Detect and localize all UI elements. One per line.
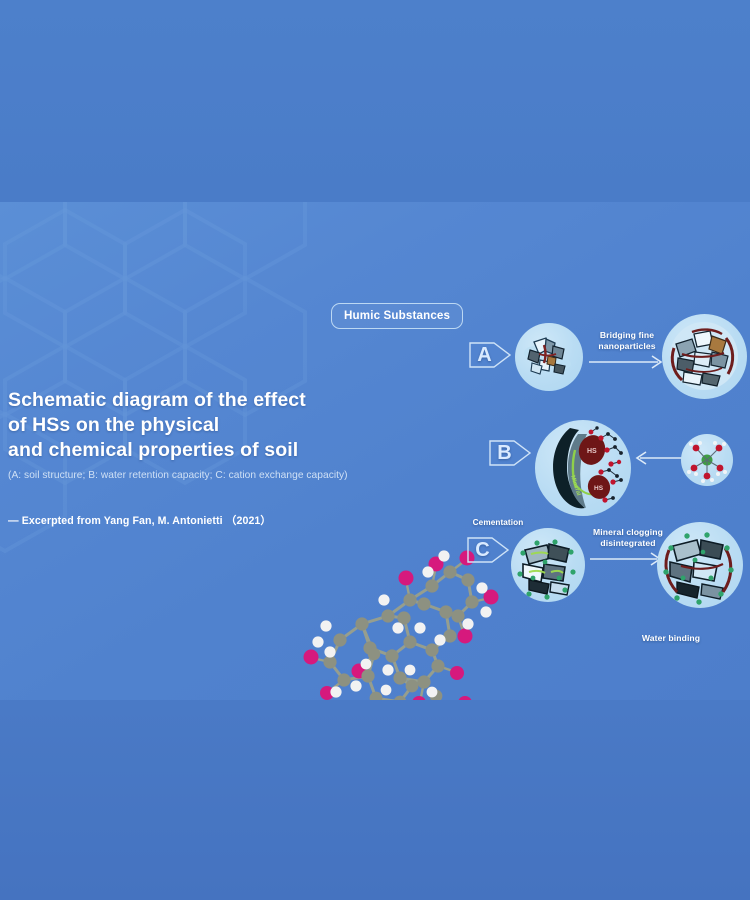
badge-a-letter: A xyxy=(468,333,501,377)
circle-humic-mineral-water-complex: HS HS Mineral xyxy=(535,420,631,516)
page-title-line-3: and chemical properties of soil xyxy=(8,439,298,461)
page-title-line-2: of HSs on the physical xyxy=(8,414,219,436)
page-background-bottom xyxy=(0,700,750,900)
badge-c-cation-exchange: C xyxy=(466,528,510,572)
source-credit: — Excerpted from Yang Fan, M. Antonietti… xyxy=(8,513,338,528)
circle-water-molecule-cluster xyxy=(681,434,733,486)
bridged-aggregate-illustration xyxy=(662,314,747,399)
caption-row-b: Water binding xyxy=(628,633,714,644)
caption-row-a-line1: Bridging fine xyxy=(584,330,670,341)
caption-row-b-line1: Water binding xyxy=(628,633,714,644)
arrow-row-c-right xyxy=(590,551,666,567)
badge-c-letter: C xyxy=(466,528,499,572)
circle-cemented-mineral-clog xyxy=(511,528,585,602)
humic-water-illustration: HS HS Mineral xyxy=(535,420,631,516)
caption-row-a-line2: nanoparticles xyxy=(584,341,670,352)
humic-substances-label: Humic Substances xyxy=(331,303,463,329)
page-background-top xyxy=(0,0,750,202)
page-title-line-1: Schematic diagram of the effect xyxy=(8,389,306,411)
banner-band: Bridging fine nanoparticles xyxy=(0,202,750,700)
figure-canvas: Bridging fine nanoparticles xyxy=(0,0,750,900)
circle-bridged-soil-aggregate xyxy=(662,314,747,399)
badge-b-letter: B xyxy=(488,431,521,475)
page-title: Schematic diagram of the effect of HSs o… xyxy=(8,388,338,463)
caption-row-a: Bridging fine nanoparticles xyxy=(584,330,670,351)
disintegrated-aggregate-illustration xyxy=(657,522,743,608)
arrow-row-a-right xyxy=(589,354,667,370)
cemented-clog-illustration xyxy=(511,528,585,602)
circle-disintegrated-mineral-aggregate xyxy=(657,522,743,608)
page-subtitle: (A: soil structure; B: water retention c… xyxy=(8,469,338,483)
loose-aggregate-illustration xyxy=(515,323,583,391)
badge-b-water-retention: B xyxy=(488,431,532,475)
circle-loose-mineral-aggregate xyxy=(515,323,583,391)
badge-a-soil-structure: A xyxy=(468,333,512,377)
water-cluster-illustration xyxy=(681,434,733,486)
svg-text:HS: HS xyxy=(587,448,597,455)
svg-text:HS: HS xyxy=(594,485,604,492)
headline-block: Schematic diagram of the effect of HSs o… xyxy=(8,388,338,528)
